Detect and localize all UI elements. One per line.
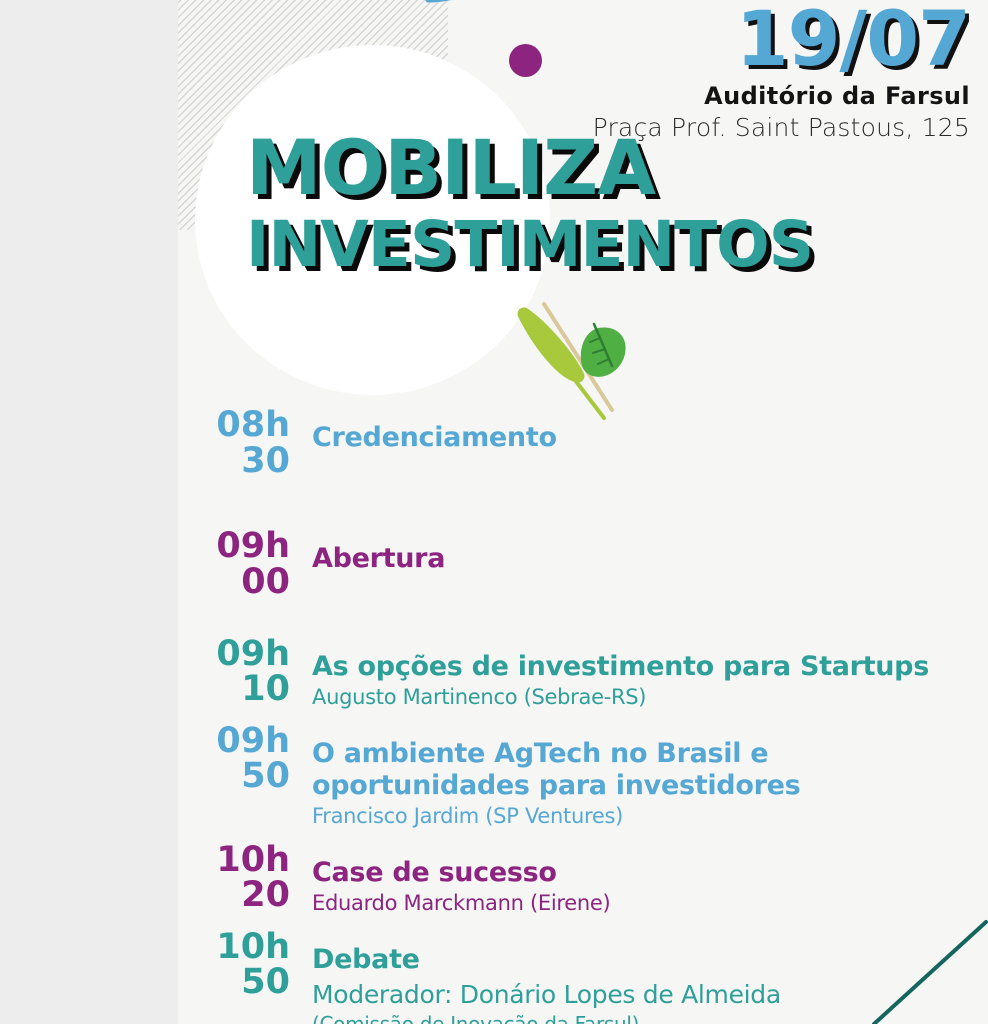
schedule-time: 09h00	[198, 529, 296, 600]
schedule-body: As opções de investimento para StartupsA…	[296, 637, 929, 710]
schedule-time: 10h20	[198, 843, 296, 914]
schedule-body: DebateModerador: Donário Lopes de Almeid…	[296, 930, 781, 1024]
schedule-row: 09h10As opções de investimento para Star…	[198, 637, 988, 710]
schedule-time: 10h50	[198, 930, 296, 1001]
schedule-row: 10h20Case de sucessoEduardo Marckmann (E…	[198, 843, 988, 916]
schedule-body: Credenciamento	[296, 408, 557, 454]
event-venue: Auditório da Farsul	[593, 82, 970, 110]
schedule-speaker: Eduardo Marckmann (Eirene)	[312, 891, 610, 916]
schedule-minute: 50	[198, 759, 290, 795]
schedule-speaker: Augusto Martinenco (Sebrae-RS)	[312, 685, 929, 710]
schedule-hour: 08h	[216, 405, 290, 445]
schedule-minute: 30	[198, 444, 290, 480]
event-date-venue: 19/07 Auditório da Farsul Praça Prof. Sa…	[593, 2, 970, 142]
title-line-2: INVESTIMENTOS	[246, 215, 813, 275]
schedule-body: O ambiente AgTech no Brasil e oportunida…	[296, 724, 988, 829]
title-line-1: MOBILIZA	[246, 132, 813, 205]
schedule-title: Case de sucesso	[312, 857, 610, 889]
schedule-time: 09h50	[198, 724, 296, 795]
schedule-hour: 10h	[216, 840, 290, 880]
schedule-time: 08h30	[198, 408, 296, 479]
schedule-minute: 20	[198, 878, 290, 914]
schedule-hour: 09h	[216, 634, 290, 674]
schedule-row: 08h30Credenciamento	[198, 408, 988, 479]
schedule-minute: 00	[198, 565, 290, 601]
schedule-hour: 10h	[216, 927, 290, 967]
schedule-title: O ambiente AgTech no Brasil e oportunida…	[312, 738, 988, 802]
event-date: 19/07	[593, 2, 970, 76]
schedule-row: 10h50DebateModerador: Donário Lopes de A…	[198, 930, 988, 1024]
schedule-body: Abertura	[296, 529, 445, 575]
schedule-minute: 50	[198, 965, 290, 1001]
schedule-body: Case de sucessoEduardo Marckmann (Eirene…	[296, 843, 610, 916]
schedule-hour: 09h	[216, 721, 290, 761]
schedule-minute: 10	[198, 672, 290, 708]
schedule-hour: 09h	[216, 526, 290, 566]
schedule-time: 09h10	[198, 637, 296, 708]
poster-sheet: 19/07 Auditório da Farsul Praça Prof. Sa…	[178, 0, 988, 1024]
schedule-title: As opções de investimento para Startups	[312, 651, 929, 683]
schedule-title: Debate	[312, 944, 781, 976]
page-title: MOBILIZA INVESTIMENTOS	[246, 132, 813, 275]
schedule-list: 08h30Credenciamento09h00Abertura09h10As …	[198, 408, 988, 1024]
schedule-speaker: Moderador: Donário Lopes de Almeida	[312, 980, 781, 1010]
purple-dot-decoration	[509, 44, 542, 77]
schedule-row: 09h50O ambiente AgTech no Brasil e oport…	[198, 724, 988, 829]
event-poster: 19/07 Auditório da Farsul Praça Prof. Sa…	[0, 0, 988, 1024]
schedule-title: Abertura	[312, 543, 445, 575]
schedule-title: Credenciamento	[312, 422, 557, 454]
schedule-note: (Comissão de Inovação da Farsul)	[312, 1012, 781, 1024]
schedule-row: 09h00Abertura	[198, 529, 988, 600]
schedule-speaker: Francisco Jardim (SP Ventures)	[312, 804, 988, 829]
